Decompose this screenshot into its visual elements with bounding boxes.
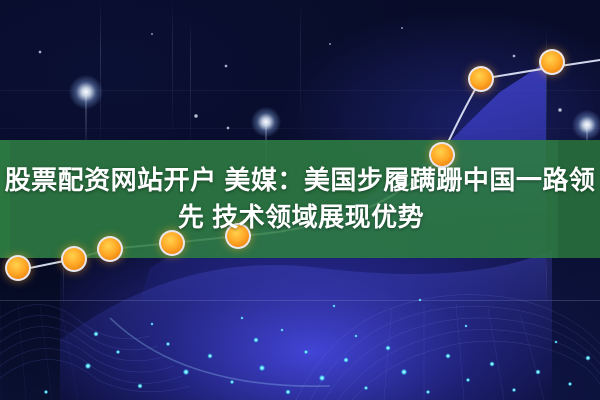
guide-line-vertical [300, 0, 301, 120]
particle-dot [386, 346, 391, 351]
particle-dot [116, 350, 120, 354]
particle-dot [364, 386, 368, 390]
chart-marker [539, 49, 565, 75]
particle-dot [230, 380, 234, 384]
headline-text: 股票配资网站开户 美媒：美国步履蹒跚中国一路领 先 技术领域展现优势 [0, 140, 600, 258]
particle-dot [466, 378, 470, 382]
particle-dot [286, 390, 291, 395]
particle-dot [513, 55, 516, 58]
guide-line-vertical [546, 258, 547, 303]
particle-dot [446, 354, 451, 359]
particle-dot [558, 108, 562, 112]
background-right-panel [552, 258, 600, 400]
particle-dot [151, 33, 153, 35]
particle-dot [512, 388, 516, 392]
particle-dot [465, 325, 468, 328]
particle-dot [304, 350, 308, 354]
particle-dot [355, 335, 358, 338]
particle-dot [183, 369, 189, 375]
guide-line-horizontal [0, 90, 600, 91]
particle-dot [419, 299, 422, 302]
background-left-panel [0, 258, 60, 400]
particle-dot [281, 329, 284, 332]
star-glow-icon [572, 110, 600, 140]
particle-dot [401, 369, 407, 375]
guide-line-vertical [546, 30, 547, 140]
particle-dot [401, 27, 403, 29]
particle-dot [85, 363, 91, 369]
headline-line-2: 先 技术领域展现优势 [176, 199, 424, 236]
particle-dot [241, 317, 244, 320]
particle-dot [259, 365, 265, 371]
particle-dot [333, 305, 336, 308]
particle-dot [166, 342, 170, 346]
particle-dot [426, 390, 430, 394]
guide-line-vertical [63, 258, 64, 303]
particle-dot [490, 362, 495, 367]
banner-image: 股票配资网站开户 美媒：美国步履蹒跚中国一路领 先 技术领域展现优势 [0, 0, 600, 400]
particle-dot [194, 114, 198, 118]
particle-dot [536, 370, 541, 375]
star-glow-icon [251, 107, 281, 137]
guide-line-vertical [190, 20, 191, 140]
particle-dot [208, 354, 213, 359]
guide-line-vertical [100, 0, 101, 140]
particle-dot [94, 332, 99, 337]
star-glow-icon [69, 75, 103, 109]
particle-dot [225, 65, 228, 68]
particle-dot [344, 358, 349, 363]
guide-line-vertical [172, 0, 173, 130]
guide-line-horizontal [0, 300, 600, 301]
particle-dot [151, 323, 154, 326]
headline-line-1: 股票配资网站开户 美媒：美国步履蹒跚中国一路领 [5, 162, 596, 199]
particle-dot [254, 338, 259, 343]
particle-dot [138, 384, 143, 389]
particle-dot [39, 51, 42, 54]
guide-line-horizontal [0, 128, 600, 129]
particle-dot [329, 43, 331, 45]
chart-marker [468, 66, 494, 92]
particle-dot [227, 127, 230, 130]
particle-dot [319, 375, 325, 381]
